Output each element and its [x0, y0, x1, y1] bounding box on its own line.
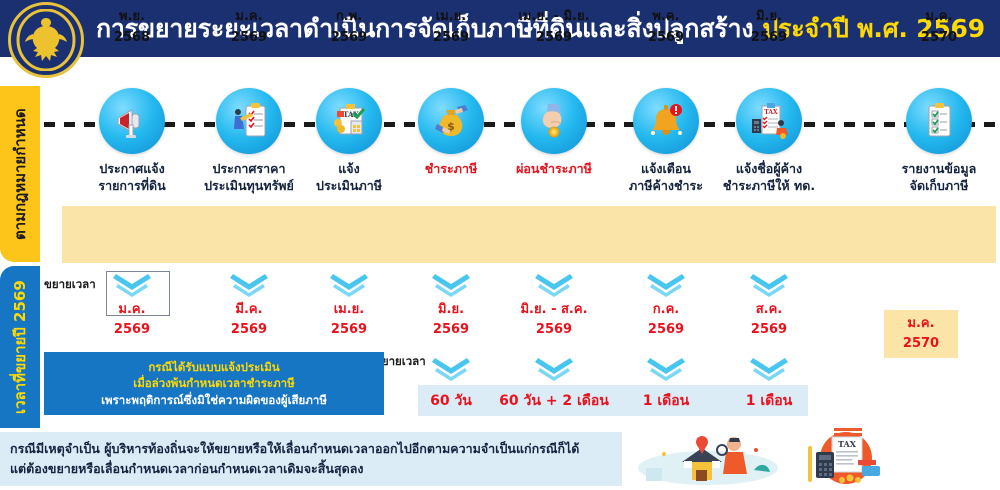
extension-duration-5: 60 วัน + 2 เดือน [495, 390, 613, 412]
svg-text:TAX: TAX [838, 439, 857, 449]
extension-entry-7-year: 2569 [710, 320, 828, 340]
extension-entry-4-year: 2569 [392, 320, 510, 340]
statutory-date-8-year: 2570 [880, 28, 998, 49]
timeline-step-5-label: ผ่อนชำระภาษี [495, 161, 613, 178]
side-label-extended-period: เวลาที่ขยายปี 2569 [0, 266, 40, 428]
footer-note-line-1: กรณีมีเหตุจำเป็น ผู้บริหารท้องถิ่นจะให้ข… [10, 439, 612, 459]
statutory-date-1-month: พ.ย. [73, 7, 191, 28]
statutory-date-5-year: 2569 [495, 28, 613, 49]
footer-note: กรณีมีเหตุจำเป็น ผู้บริหารท้องถิ่นจะให้ข… [0, 432, 622, 486]
extension-duration-7: 1 เดือน [710, 390, 828, 412]
extension-entry-6-year: 2569 [607, 320, 725, 340]
statutory-date-7: มิ.ย.2569 [710, 7, 828, 49]
statutory-date-5-month: เม.ย. - มิ.ย. [495, 7, 613, 28]
bell-alert-icon [633, 88, 699, 154]
statutory-date-6-year: 2569 [607, 28, 725, 49]
infographic-root: การขยายระยะเวลาดำเนินการจัดเก็บภาษีที่ดิ… [0, 0, 1000, 486]
money-bag-icon: $ [418, 88, 484, 154]
statutory-date-3-month: ก.พ. [290, 7, 408, 28]
statutory-date-5: เม.ย. - มิ.ย.2569 [495, 7, 613, 49]
tax-documents-illustration: TAX [792, 428, 896, 486]
extension-duration-arrow-4 [392, 356, 510, 384]
statutory-date-3: ก.พ.2569 [290, 7, 408, 49]
final-report-month: ม.ค. [907, 314, 934, 334]
timeline-step-3-label: แจ้ง ประเมินภาษี [290, 161, 408, 195]
timeline-step-1-label: ประกาศแจ้ง รายการที่ดิน [73, 161, 191, 195]
assessment-note-line-3: เพราะพฤติการณ์ซึ่งมิใช่ความผิดของผู้เสีย… [101, 392, 327, 408]
statutory-date-3-year: 2569 [290, 28, 408, 49]
extension-duration-arrow-6 [607, 356, 725, 384]
final-report-year: 2570 [903, 334, 939, 354]
extension-duration-arrow-7 [710, 356, 828, 384]
extension-entry-5-month: มิ.ย. - ส.ค. [495, 300, 613, 320]
checklist-icon [906, 88, 972, 154]
extension-entry-5-year: 2569 [495, 320, 613, 340]
assessment-note-box: กรณีได้รับแบบแจ้งประเมิน เมื่อล่วงพ้นกำห… [44, 352, 384, 415]
statutory-date-8-month: ม.ค. [880, 7, 998, 28]
extension-entry-3-month: เม.ย. [290, 300, 408, 320]
svg-text:TAX: TAX [764, 109, 778, 116]
footer-note-line-2: แต่ต้องขยายหรือเลื่อนกำหนดเวลาก่อนกำหนดเ… [10, 459, 612, 479]
side-label-law-period-text: ตามกฎหมายกำหนด [8, 108, 32, 240]
final-report-cell: ม.ค. 2570 [884, 310, 958, 358]
statutory-date-7-month: มิ.ย. [710, 7, 828, 28]
timeline-step-1[interactable]: ประกาศแจ้ง รายการที่ดิน [73, 88, 191, 195]
garuda-emblem [8, 2, 84, 78]
extension-entry-7-month: ส.ค. [710, 300, 828, 320]
timeline-step-6-label: แจ้งเตือน ภาษีค้างชำระ [607, 161, 725, 195]
house-inspector-illustration [634, 428, 782, 486]
timeline-step-4[interactable]: $ชำระภาษี [392, 88, 510, 178]
timeline-step-8[interactable]: รายงานข้อมูล จัดเก็บภาษี [880, 88, 998, 195]
extension-entry-4-month: มิ.ย. [392, 300, 510, 320]
tax-report-icon: TAX [736, 88, 802, 154]
clipboard-person-icon [216, 88, 282, 154]
extension-duration-arrow-5 [495, 356, 613, 384]
statutory-date-4: เม.ย.2569 [392, 7, 510, 49]
extension-entry-4: มิ.ย.2569 [392, 272, 510, 340]
megaphone-icon [99, 88, 165, 154]
side-label-law-period: ตามกฎหมายกำหนด [0, 86, 40, 262]
extension-entry-5: มิ.ย. - ส.ค.2569 [495, 272, 613, 340]
tax-form-icon: TAX [316, 88, 382, 154]
extension-entry-7: ส.ค.2569 [710, 272, 828, 340]
timeline-step-7-label: แจ้งชื่อผู้ค้าง ชำระภาษีให้ ทด. [710, 161, 828, 195]
focus-highlight-box [106, 271, 170, 316]
side-label-extended-period-text: เวลาที่ขยายปี 2569 [8, 280, 32, 414]
statutory-date-6-month: พ.ค. [607, 7, 725, 28]
assessment-note-line-2: เมื่อล่วงพ้นกำหนดเวลาชำระภาษี [133, 375, 294, 391]
statutory-date-6: พ.ค.2569 [607, 7, 725, 49]
coin-hand-icon [521, 88, 587, 154]
extension-entry-6-month: ก.ค. [607, 300, 725, 320]
statutory-date-8: ม.ค.2570 [880, 7, 998, 49]
statutory-date-4-year: 2569 [392, 28, 510, 49]
timeline-step-5[interactable]: ผ่อนชำระภาษี [495, 88, 613, 178]
statutory-date-1-year: 2568 [73, 28, 191, 49]
assessment-note-line-1: กรณีได้รับแบบแจ้งประเมิน [148, 359, 279, 375]
timeline-step-6[interactable]: แจ้งเตือน ภาษีค้างชำระ [607, 88, 725, 195]
statutory-date-7-year: 2569 [710, 28, 828, 49]
statutory-date-strip [62, 206, 996, 263]
statutory-date-4-month: เม.ย. [392, 7, 510, 28]
extension-duration-4: 60 วัน [392, 390, 510, 412]
extension-entry-1-year: 2569 [73, 320, 191, 340]
timeline-step-4-label: ชำระภาษี [392, 161, 510, 178]
statutory-date-1: พ.ย.2568 [73, 7, 191, 49]
extension-entry-3: เม.ย.2569 [290, 272, 408, 340]
timeline-step-8-label: รายงานข้อมูล จัดเก็บภาษี [880, 161, 998, 195]
extension-entry-6: ก.ค.2569 [607, 272, 725, 340]
timeline-step-3[interactable]: TAXแจ้ง ประเมินภาษี [290, 88, 408, 195]
extension-duration-6: 1 เดือน [607, 390, 725, 412]
extension-entry-3-year: 2569 [290, 320, 408, 340]
timeline-step-7[interactable]: TAXแจ้งชื่อผู้ค้าง ชำระภาษีให้ ทด. [710, 88, 828, 195]
